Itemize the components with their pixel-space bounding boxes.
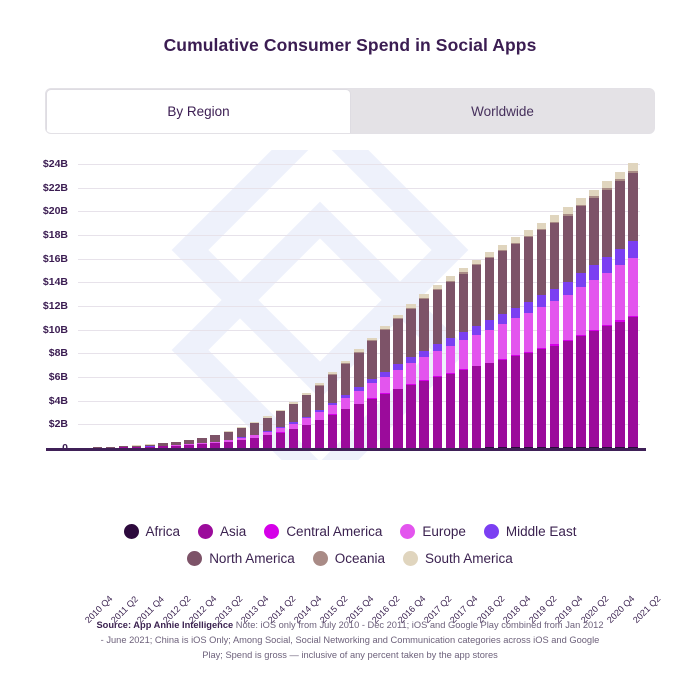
bar-slot (470, 164, 483, 448)
bar-segment (419, 357, 428, 380)
bar-segment (602, 273, 611, 326)
bar-segment (433, 377, 442, 447)
bar-slot (130, 164, 143, 448)
bar-segment (576, 206, 585, 273)
bar-segment (328, 405, 337, 414)
stacked-bar[interactable] (302, 393, 311, 448)
bar-slot (156, 164, 169, 448)
bar-segment (341, 398, 350, 409)
stacked-bar[interactable] (210, 435, 219, 448)
bar-segment (302, 425, 311, 448)
stacked-bar[interactable] (524, 230, 533, 448)
bar-slot (418, 164, 431, 448)
bar-slot (548, 164, 561, 448)
legend-item[interactable]: Asia (198, 524, 246, 539)
bar-segment (380, 330, 389, 372)
bar-slot (601, 164, 614, 448)
legend-item-label: Europe (422, 524, 466, 539)
bar-segment (367, 399, 376, 448)
y-axis-tick-label: $6B (49, 371, 68, 383)
bar-segment (315, 412, 324, 420)
stacked-bar[interactable] (184, 440, 193, 448)
bar-segment (472, 366, 481, 447)
bar-segment (511, 356, 520, 447)
y-axis-tick-label: $10B (43, 324, 68, 336)
bar-slot (483, 164, 496, 448)
bar-segment (341, 364, 350, 395)
bar-slot (352, 164, 365, 448)
bar-slot (104, 164, 117, 448)
stacked-bar[interactable] (589, 190, 598, 449)
chart-legend: AfricaAsiaCentral AmericaEuropeMiddle Ea… (0, 524, 700, 578)
legend-item[interactable]: Europe (400, 524, 466, 539)
bar-slot (431, 164, 444, 448)
legend-row-2: North AmericaOceaniaSouth America (0, 551, 700, 566)
bar-segment (589, 198, 598, 265)
bar-segment (485, 320, 494, 329)
bar-segment (328, 415, 337, 448)
bar-segment (341, 409, 350, 447)
stacked-bar[interactable] (576, 198, 585, 448)
bar-segment (576, 198, 585, 205)
bar-segment (433, 351, 442, 376)
stacked-bar[interactable] (419, 294, 428, 448)
stacked-bar[interactable] (433, 285, 442, 448)
bar-slot (78, 164, 91, 448)
bar-segment (498, 314, 507, 324)
bar-slot (287, 164, 300, 448)
stacked-bar[interactable] (498, 245, 507, 448)
bar-segment (550, 223, 559, 289)
y-axis-labels: 0$2B$4B$6B$8B$10B$12B$14B$16B$18B$20B$22… (0, 164, 74, 448)
bar-segment (628, 258, 637, 315)
stacked-bar[interactable] (472, 260, 481, 448)
bar-slot (261, 164, 274, 448)
bar-slot (457, 164, 470, 448)
tab-by-region-label: By Region (167, 104, 229, 119)
legend-color-swatch-icon (187, 551, 202, 566)
bar-segment (315, 420, 324, 448)
stacked-bar[interactable] (263, 416, 272, 448)
bar-segment (472, 335, 481, 366)
stacked-bar[interactable] (328, 372, 337, 448)
bar-slot (222, 164, 235, 448)
bar-slot (117, 164, 130, 448)
page-title: Cumulative Consumer Spend in Social Apps (0, 0, 700, 56)
bar-segment (628, 317, 637, 447)
bar-segment (602, 326, 611, 447)
bar-slot (274, 164, 287, 448)
bar-slot (169, 164, 182, 448)
stacked-bar[interactable] (459, 268, 468, 448)
y-axis-tick-label: $14B (43, 276, 68, 288)
bar-slot (91, 164, 104, 448)
bar-segment (550, 301, 559, 344)
bar-segment (263, 435, 272, 447)
bar-segment (328, 375, 337, 403)
stacked-bar[interactable] (289, 402, 298, 448)
legend-item[interactable]: Oceania (313, 551, 385, 566)
legend-item-label: Middle East (506, 524, 577, 539)
y-axis-tick-label: $18B (43, 229, 68, 241)
bar-slot (209, 164, 222, 448)
stacked-bar[interactable] (550, 215, 559, 448)
bar-slot (313, 164, 326, 448)
bar-segment (485, 330, 494, 363)
bar-segment (237, 440, 246, 448)
stacked-bar[interactable] (315, 383, 324, 448)
bar-segment (276, 411, 285, 427)
bar-slot (614, 164, 627, 448)
bar-segment (380, 377, 389, 394)
bar-segment (589, 331, 598, 447)
stacked-bar[interactable] (511, 237, 520, 448)
bar-slot (365, 164, 378, 448)
bar-slot (509, 164, 522, 448)
tab-worldwide[interactable]: Worldwide (351, 89, 654, 133)
bar-segment (589, 265, 598, 280)
stacked-bar[interactable] (250, 422, 259, 448)
bar-segment (602, 190, 611, 257)
bar-slot (496, 164, 509, 448)
bar-segment (524, 313, 533, 352)
bar-segment (615, 265, 624, 320)
legend-item[interactable]: South America (403, 551, 513, 566)
bar-segment (615, 322, 624, 447)
bar-segment (576, 287, 585, 335)
stacked-bar[interactable] (367, 338, 376, 448)
bar-segment (563, 282, 572, 295)
view-tabs[interactable]: By Region Worldwide (45, 88, 655, 134)
bar-slot (587, 164, 600, 448)
bar-segment (289, 429, 298, 448)
bar-segment (393, 389, 402, 448)
bar-segment (537, 307, 546, 348)
bar-segment (276, 433, 285, 448)
legend-item-label: Africa (146, 524, 181, 539)
legend-color-swatch-icon (124, 524, 139, 539)
legend-item-label: Oceania (335, 551, 385, 566)
stacked-bar[interactable] (380, 326, 389, 448)
stacked-bar[interactable] (628, 163, 637, 448)
bar-segment (446, 282, 455, 339)
legend-color-swatch-icon (403, 551, 418, 566)
bar-segment (367, 341, 376, 379)
footer-source-label: Source: App Annie Intelligence (96, 620, 233, 630)
bar-segment (459, 274, 468, 333)
bar-segment (550, 289, 559, 302)
bar-segment (563, 295, 572, 341)
bar-segment (406, 309, 415, 358)
bar-segment (380, 394, 389, 448)
legend-item[interactable]: Central America (264, 524, 382, 539)
legend-color-swatch-icon (313, 551, 328, 566)
bar-segment (498, 360, 507, 448)
bar-segment (250, 438, 259, 448)
bar-segment (237, 428, 246, 437)
bar-slot (392, 164, 405, 448)
bar-slot (535, 164, 548, 448)
plot-area (78, 164, 640, 448)
footer-note: Source: App Annie Intelligence Note: iOS… (95, 618, 605, 663)
stacked-bar[interactable] (224, 431, 233, 448)
stacked-bar[interactable] (602, 181, 611, 448)
legend-item-label: South America (425, 551, 513, 566)
stacked-bar[interactable] (341, 361, 350, 448)
y-axis-tick-label: $4B (49, 395, 68, 407)
bar-segment (563, 341, 572, 447)
bar-segment (615, 172, 624, 179)
bar-slot (248, 164, 261, 448)
bar-segment (628, 241, 637, 258)
y-axis-tick-label: $8B (49, 347, 68, 359)
legend-color-swatch-icon (198, 524, 213, 539)
bar-segment (250, 423, 259, 434)
bar-segment (485, 363, 494, 447)
bar-slot (561, 164, 574, 448)
bar-segment (524, 237, 533, 302)
y-axis-tick-label: $24B (43, 158, 68, 170)
stacked-bar[interactable] (615, 172, 624, 448)
bar-segment (393, 319, 402, 364)
bar-segment (589, 280, 598, 330)
stacked-bar[interactable] (446, 276, 455, 448)
bar-slot (183, 164, 196, 448)
bar-segment (419, 299, 428, 350)
bar-segment (472, 326, 481, 335)
bar-segment (472, 265, 481, 325)
bar-segment (602, 181, 611, 188)
stacked-bar[interactable] (354, 349, 363, 448)
bar-segment (602, 257, 611, 272)
bar-segment (433, 290, 442, 344)
bar-slot (378, 164, 391, 448)
bar-segment (367, 383, 376, 398)
stacked-bar[interactable] (393, 315, 402, 448)
bar-segment (563, 216, 572, 282)
bar-slot (143, 164, 156, 448)
bar-segment (419, 381, 428, 448)
bar-segment (498, 324, 507, 359)
bar-segment (511, 318, 520, 355)
chart-container: 0$2B$4B$6B$8B$10B$12B$14B$16B$18B$20B$22… (0, 150, 700, 470)
bar-segment (459, 332, 468, 340)
bar-slot (326, 164, 339, 448)
bar-segment (354, 391, 363, 404)
y-axis-tick-label: $2B (49, 418, 68, 430)
bar-segment (550, 346, 559, 448)
bar-segment (524, 353, 533, 448)
bar-slot (522, 164, 535, 448)
stacked-bar[interactable] (237, 427, 246, 448)
legend-color-swatch-icon (264, 524, 279, 539)
legend-item[interactable]: Africa (124, 524, 181, 539)
stacked-bar[interactable] (197, 438, 206, 448)
bar-segment (576, 273, 585, 287)
bar-segment (433, 344, 442, 351)
bar-segment (302, 395, 311, 416)
bar-series-group (78, 164, 640, 448)
bar-segment (406, 385, 415, 448)
bar-segment (524, 302, 533, 313)
bar-slot (405, 164, 418, 448)
bar-segment (511, 244, 520, 308)
stacked-bar[interactable] (563, 207, 572, 448)
bar-slot (574, 164, 587, 448)
bar-segment (511, 308, 520, 319)
bar-slot (300, 164, 313, 448)
chart-page: Cumulative Consumer Spend in Social Apps… (0, 0, 700, 689)
stacked-bar[interactable] (406, 304, 415, 448)
bar-segment (576, 336, 585, 447)
bar-segment (393, 370, 402, 389)
bar-segment (446, 374, 455, 448)
y-axis-tick-label: $20B (43, 205, 68, 217)
x-axis-tick-label: 2021 Q2 (631, 594, 662, 625)
legend-color-swatch-icon (400, 524, 415, 539)
legend-item[interactable]: North America (187, 551, 295, 566)
bar-segment (224, 432, 233, 440)
bar-segment (289, 404, 298, 422)
y-axis-tick-label: $22B (43, 182, 68, 194)
bar-segment (615, 249, 624, 265)
legend-item-label: Asia (220, 524, 246, 539)
y-axis-tick-label: $12B (43, 300, 68, 312)
bar-segment (459, 340, 468, 369)
bar-segment (354, 404, 363, 448)
bar-segment (446, 338, 455, 346)
legend-row-1: AfricaAsiaCentral AmericaEuropeMiddle Ea… (0, 524, 700, 539)
bar-segment (406, 363, 415, 384)
stacked-bar[interactable] (485, 252, 494, 448)
y-axis-tick-label: $16B (43, 253, 68, 265)
legend-item-label: North America (209, 551, 295, 566)
bar-segment (459, 370, 468, 448)
tab-worldwide-label: Worldwide (471, 104, 534, 119)
bar-segment (615, 181, 624, 249)
bar-slot (627, 164, 640, 448)
stacked-bar[interactable] (276, 410, 285, 448)
bar-segment (485, 258, 494, 320)
x-axis-tick-label: 2020 Q4 (605, 594, 636, 625)
bar-slot (444, 164, 457, 448)
bar-slot (339, 164, 352, 448)
bar-segment (628, 163, 637, 171)
legend-item[interactable]: Middle East (484, 524, 577, 539)
bar-segment (537, 230, 546, 295)
stacked-bar[interactable] (537, 223, 546, 448)
bar-slot (235, 164, 248, 448)
bar-segment (354, 353, 363, 388)
x-axis-line (46, 448, 646, 451)
tab-by-region[interactable]: By Region (46, 89, 351, 133)
bar-segment (589, 190, 598, 197)
bar-segment (628, 173, 637, 241)
bar-segment (263, 418, 272, 431)
bar-segment (315, 386, 324, 410)
bar-segment (498, 251, 507, 314)
bar-segment (537, 295, 546, 307)
legend-item-label: Central America (286, 524, 382, 539)
bar-segment (446, 346, 455, 373)
bar-slot (196, 164, 209, 448)
legend-color-swatch-icon (484, 524, 499, 539)
bar-segment (537, 349, 546, 447)
